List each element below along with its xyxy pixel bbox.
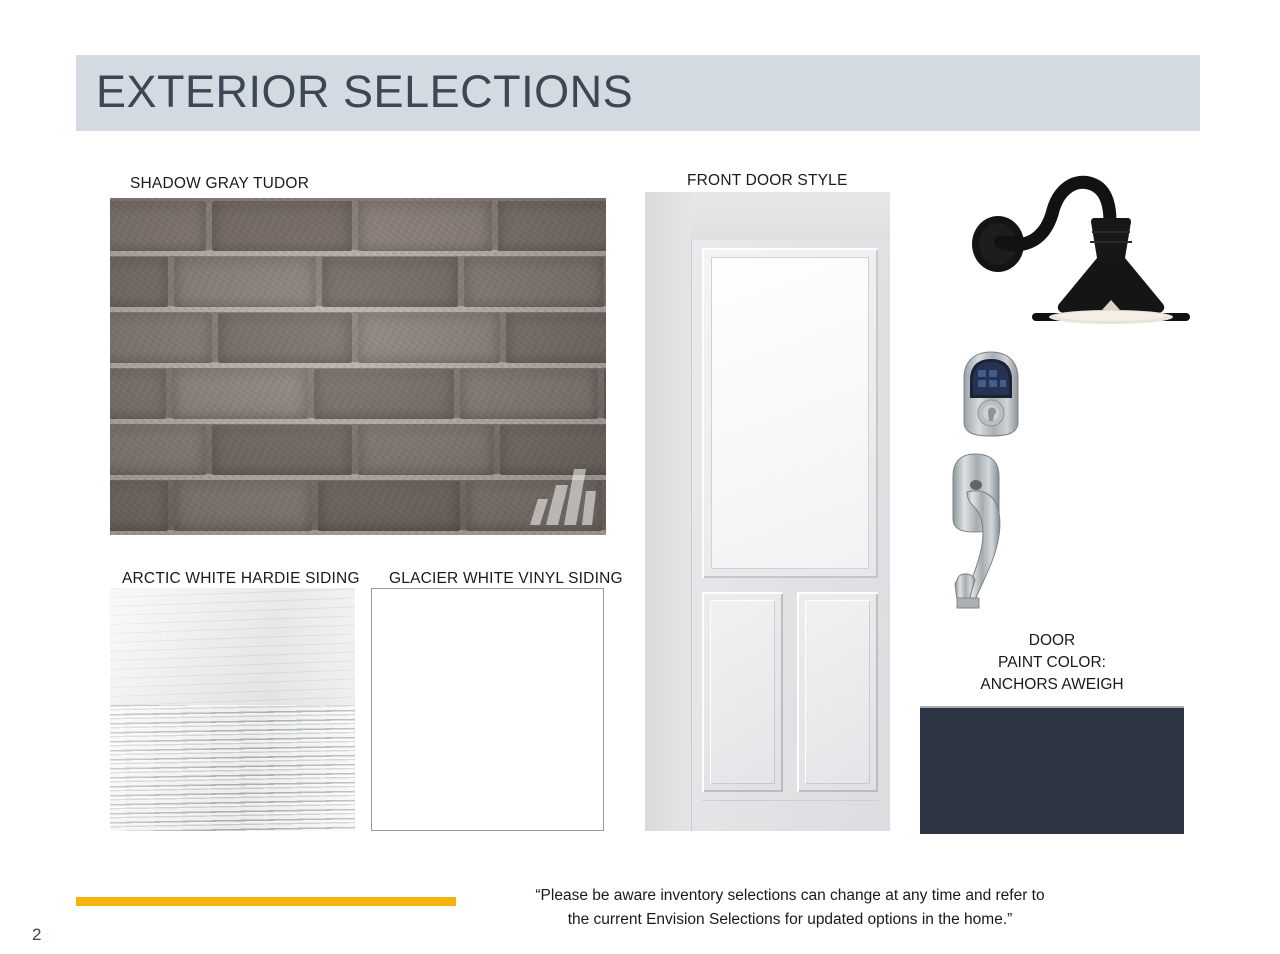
door-head-casing bbox=[691, 192, 890, 240]
page-number: 2 bbox=[32, 925, 41, 945]
slide-exterior-selections: EXTERIOR SELECTIONS SHADOW GRAY TUDOR bbox=[0, 0, 1280, 954]
paint-caption-line-3: ANCHORS AWEIGH bbox=[920, 674, 1184, 696]
ascending-bars-logo-icon bbox=[528, 465, 596, 527]
accent-bar bbox=[76, 897, 456, 906]
title-band: EXTERIOR SELECTIONS bbox=[76, 55, 1200, 131]
paint-color-caption: DOOR PAINT COLOR: ANCHORS AWEIGH bbox=[920, 630, 1184, 696]
paint-caption-line-2: PAINT COLOR: bbox=[920, 652, 1184, 674]
door-bottom-rail bbox=[702, 800, 878, 827]
hardie-siding-swatch bbox=[110, 588, 355, 831]
door-glass-frame bbox=[702, 248, 878, 578]
brick-swatch-shadow-gray-tudor bbox=[110, 198, 606, 535]
paint-color-swatch-anchors-aweigh bbox=[920, 706, 1184, 834]
disclaimer-line-1: “Please be aware inventory selections ca… bbox=[440, 884, 1140, 908]
paint-caption-line-1: DOOR bbox=[920, 630, 1184, 652]
page-title: EXTERIOR SELECTIONS bbox=[96, 66, 633, 118]
hardie-swatch-label: ARCTIC WHITE HARDIE SIDING bbox=[122, 570, 360, 588]
door-glass-panel bbox=[711, 257, 869, 569]
door-panel-left bbox=[702, 592, 783, 792]
door-panel-right bbox=[797, 592, 878, 792]
door-lower-panels bbox=[702, 592, 878, 792]
front-door-image bbox=[645, 192, 890, 831]
door-slab bbox=[691, 240, 890, 831]
door-style-label: FRONT DOOR STYLE bbox=[687, 172, 848, 190]
disclaimer-text: “Please be aware inventory selections ca… bbox=[440, 884, 1140, 932]
hardie-sheen bbox=[110, 588, 355, 831]
brick-swatch-label: SHADOW GRAY TUDOR bbox=[130, 175, 309, 193]
vinyl-swatch-label: GLACIER WHITE VINYL SIDING bbox=[389, 570, 623, 588]
disclaimer-line-2: the current Envision Selections for upda… bbox=[440, 908, 1140, 932]
smart-deadbolt-lock-icon bbox=[958, 350, 1024, 438]
vinyl-siding-swatch bbox=[371, 588, 604, 831]
door-jamb bbox=[645, 192, 691, 831]
barn-light-fixture-icon bbox=[960, 170, 1192, 340]
door-handleset-icon bbox=[945, 448, 1021, 613]
